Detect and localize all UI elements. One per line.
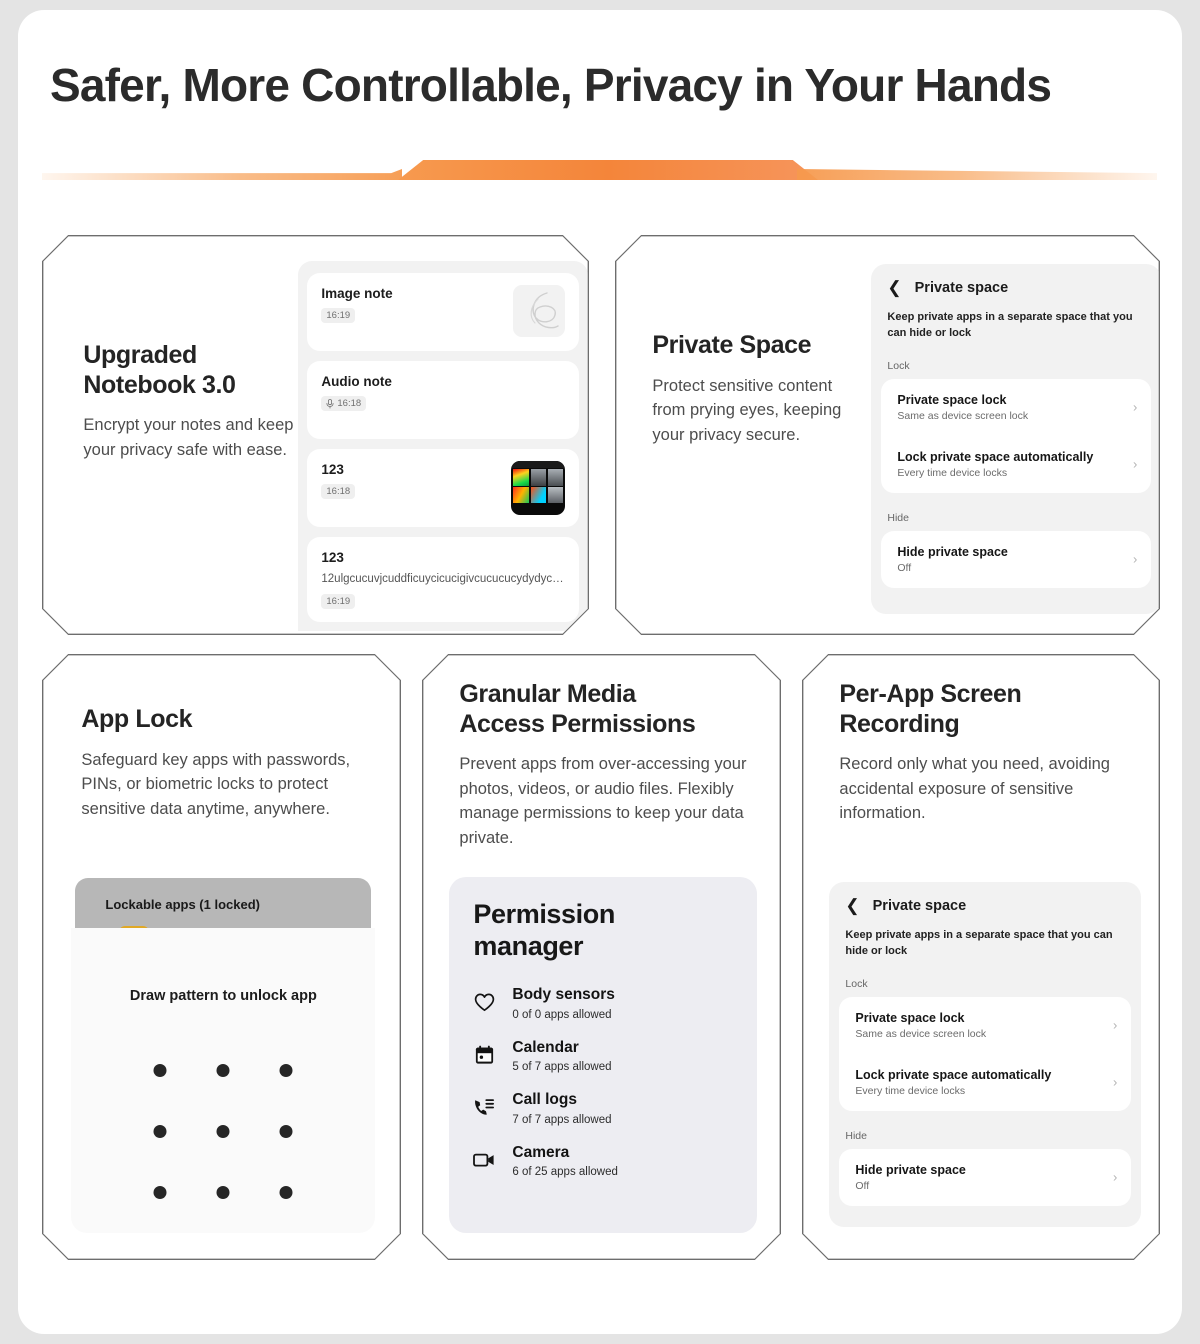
permission-manager-title: Permission manager <box>449 899 757 963</box>
note-timestamp: 16:19 <box>321 594 355 609</box>
settings-row-lock-automatically[interactable]: Lock private space automatically Every t… <box>839 1054 1131 1111</box>
notebook-note-list: Image note 16:19 Audio note <box>298 261 587 631</box>
private-space-text-block: Private Space Protect sensitive content … <box>652 331 867 447</box>
screen-recording-title-line1: Per-App Screen <box>839 680 1021 708</box>
private-space-settings-panel: ❮ Private space Keep private apps in a s… <box>871 264 1158 614</box>
settings-group-lock: Private space lock Same as device screen… <box>839 997 1131 1111</box>
permission-list: Body sensors 0 of 0 apps allowed <box>449 977 757 1187</box>
app-lock-description: Safeguard key apps with passwords, PINs,… <box>81 748 366 821</box>
permission-text: Camera 6 of 25 apps allowed <box>512 1144 618 1179</box>
pattern-dot[interactable] <box>280 1125 293 1138</box>
pattern-dot[interactable] <box>154 1064 167 1077</box>
permission-text: Body sensors 0 of 0 apps allowed <box>512 986 615 1021</box>
chevron-left-icon[interactable]: ❮ <box>845 897 859 914</box>
settings-group-hide: Hide private space Off › <box>881 531 1151 588</box>
pattern-dot[interactable] <box>280 1064 293 1077</box>
note-timestamp: 16:18 <box>321 396 366 411</box>
settings-row-title: Lock private space automatically <box>897 450 1117 464</box>
permission-manager-title-line1: Permission <box>473 899 615 929</box>
pattern-dot[interactable] <box>280 1186 293 1199</box>
media-permissions-title: Granular Media Access Permissions <box>459 680 759 739</box>
camera-icon <box>473 1149 495 1171</box>
section-label-lock: Lock <box>829 959 1141 997</box>
settings-row-title: Hide private space <box>855 1163 1097 1177</box>
private-space-panel-title: Private space <box>873 898 967 914</box>
permission-name: Camera <box>512 1144 569 1161</box>
note-title: Audio note <box>321 374 565 389</box>
note-timestamp: 16:19 <box>321 308 355 323</box>
list-item[interactable]: Body sensors 0 of 0 apps allowed <box>449 977 757 1030</box>
permission-meta: 0 of 0 apps allowed <box>512 1009 615 1021</box>
settings-row-title: Lock private space automatically <box>855 1068 1097 1082</box>
settings-row-title: Private space lock <box>897 393 1117 407</box>
pattern-dot[interactable] <box>217 1064 230 1077</box>
permission-meta: 6 of 25 apps allowed <box>512 1166 618 1178</box>
chevron-right-icon: › <box>1113 1170 1117 1185</box>
permission-meta: 5 of 7 apps allowed <box>512 1061 611 1073</box>
list-item[interactable]: 123 16:18 <box>307 449 579 527</box>
settings-row-subtitle: Every time device locks <box>897 467 1117 479</box>
screen-recording-text-block: Per-App Screen Recording Record only wha… <box>839 680 1129 825</box>
chevron-right-icon: › <box>1133 552 1137 567</box>
private-space-panel-title: Private space <box>915 280 1009 296</box>
permission-name: Call logs <box>512 1091 577 1108</box>
private-space-panel-header: ❮ Private space <box>871 264 1158 300</box>
private-space-panel-header: ❮ Private space <box>829 882 1141 918</box>
media-permissions-title-line2: Access Permissions <box>459 710 695 738</box>
private-space-settings-panel-secondary: ❮ Private space Keep private apps in a s… <box>829 882 1141 1227</box>
chevron-right-icon: › <box>1133 457 1137 472</box>
media-permissions-title-line1: Granular Media <box>459 680 635 708</box>
settings-row-lock-automatically[interactable]: Lock private space automatically Every t… <box>881 436 1151 493</box>
page-panel: Safer, More Controllable, Privacy in You… <box>18 10 1182 1334</box>
settings-row-hide-private-space[interactable]: Hide private space Off › <box>881 531 1151 588</box>
note-time-text: 16:19 <box>326 310 350 321</box>
settings-row-subtitle: Same as device screen lock <box>897 410 1117 422</box>
settings-row-subtitle: Every time device locks <box>855 1085 1097 1097</box>
chevron-right-icon: › <box>1133 400 1137 415</box>
chevron-right-icon: › <box>1113 1075 1117 1090</box>
permission-name: Body sensors <box>512 986 615 1003</box>
heart-icon <box>473 991 495 1013</box>
pattern-dot[interactable] <box>217 1125 230 1138</box>
screen-recording-description: Record only what you need, avoiding acci… <box>839 752 1129 825</box>
permission-name: Calendar <box>512 1039 578 1056</box>
private-space-title: Private Space <box>652 331 867 361</box>
screen-recording-title-line2: Recording <box>839 710 959 738</box>
permission-manager-panel: Permission manager Body sensors 0 of 0 a… <box>449 877 757 1233</box>
unlock-pattern-sheet: Draw pattern to unlock app <box>71 928 375 1233</box>
notebook-text-block: Upgraded Notebook 3.0 Encrypt your notes… <box>83 341 298 462</box>
permission-meta: 7 of 7 apps allowed <box>512 1114 611 1126</box>
settings-row-subtitle: Same as device screen lock <box>855 1028 1097 1040</box>
media-permissions-description: Prevent apps from over-accessing your ph… <box>459 752 759 850</box>
calendar-icon <box>473 1044 495 1066</box>
note-time-text: 16:19 <box>326 596 350 607</box>
feature-card-media-permissions: Granular Media Access Permissions Preven… <box>422 654 781 1260</box>
chevron-left-icon[interactable]: ❮ <box>887 279 901 296</box>
notebook-title-line1: Upgraded <box>83 341 196 369</box>
settings-row-private-space-lock[interactable]: Private space lock Same as device screen… <box>881 379 1151 436</box>
note-preview-text: 12ulgcucuvjcuddficuycicucigivcucucucydyd… <box>321 572 565 587</box>
section-label-hide: Hide <box>871 493 1158 531</box>
list-item[interactable]: Call logs 7 of 7 apps allowed <box>449 1082 757 1135</box>
feature-card-app-lock: App Lock Safeguard key apps with passwor… <box>42 654 401 1260</box>
permission-text: Call logs 7 of 7 apps allowed <box>512 1091 611 1126</box>
settings-row-private-space-lock[interactable]: Private space lock Same as device screen… <box>839 997 1131 1054</box>
feature-card-screen-recording: Per-App Screen Recording Record only wha… <box>802 654 1160 1260</box>
list-item[interactable]: Camera 6 of 25 apps allowed <box>449 1135 757 1188</box>
screen-recording-title: Per-App Screen Recording <box>839 680 1129 739</box>
private-space-description: Protect sensitive content from prying ey… <box>652 374 867 447</box>
settings-row-subtitle: Off <box>897 562 1117 574</box>
note-drawing-thumbnail <box>513 285 565 337</box>
note-time-text: 16:18 <box>337 398 361 409</box>
list-item[interactable]: Calendar 5 of 7 apps allowed <box>449 1030 757 1083</box>
notebook-description: Encrypt your notes and keep your privacy… <box>83 413 298 462</box>
section-label-lock: Lock <box>871 341 1158 379</box>
settings-row-title: Hide private space <box>897 545 1117 559</box>
app-lock-text-block: App Lock Safeguard key apps with passwor… <box>81 705 366 821</box>
decorative-divider <box>42 153 1157 189</box>
note-title: 123 <box>321 550 565 565</box>
list-item[interactable]: 123 12ulgcucuvjcuddficuycicucigivcucucuc… <box>307 537 579 622</box>
list-item[interactable]: Audio note 16:18 <box>307 361 579 439</box>
pattern-dot[interactable] <box>217 1186 230 1199</box>
app-lock-screen-mock: Lockable apps (1 locked) Draw pattern to… <box>71 878 375 1233</box>
pattern-dot-grid[interactable] <box>129 1040 318 1223</box>
feature-card-private-space: Private Space Protect sensitive content … <box>615 235 1160 635</box>
list-item[interactable]: Image note 16:19 <box>307 273 579 351</box>
notebook-title-line2: Notebook 3.0 <box>83 371 235 399</box>
divider-left-bar <box>42 169 402 180</box>
divider-center-bar <box>398 160 818 180</box>
chevron-right-icon: › <box>1113 1018 1117 1033</box>
page-title: Safer, More Controllable, Privacy in You… <box>50 58 1150 112</box>
private-space-panel-intro: Keep private apps in a separate space th… <box>871 300 1158 340</box>
lockable-apps-label: Lockable apps (1 locked) <box>105 897 260 912</box>
settings-row-hide-private-space[interactable]: Hide private space Off › <box>839 1149 1131 1206</box>
feature-card-notebook: Upgraded Notebook 3.0 Encrypt your notes… <box>42 235 589 635</box>
settings-row-title: Private space lock <box>855 1011 1097 1025</box>
permission-manager-title-line2: manager <box>473 931 583 961</box>
settings-row-subtitle: Off <box>855 1180 1097 1192</box>
call-log-icon <box>473 1096 495 1118</box>
note-time-text: 16:18 <box>326 486 350 497</box>
draw-pattern-prompt: Draw pattern to unlock app <box>71 988 375 1004</box>
microphone-icon <box>326 399 334 409</box>
pattern-dot[interactable] <box>154 1125 167 1138</box>
pattern-dot[interactable] <box>154 1186 167 1199</box>
settings-group-hide: Hide private space Off › <box>839 1149 1131 1206</box>
permission-text: Calendar 5 of 7 apps allowed <box>512 1039 611 1074</box>
note-timestamp: 16:18 <box>321 484 355 499</box>
notebook-title: Upgraded Notebook 3.0 <box>83 341 298 400</box>
media-permissions-text-block: Granular Media Access Permissions Preven… <box>459 680 759 850</box>
note-photo-thumbnail <box>511 461 565 515</box>
section-label-hide: Hide <box>829 1111 1141 1149</box>
settings-group-lock: Private space lock Same as device screen… <box>881 379 1151 493</box>
divider-right-bar <box>797 169 1157 180</box>
app-lock-title: App Lock <box>81 705 366 735</box>
private-space-panel-intro: Keep private apps in a separate space th… <box>829 918 1141 958</box>
